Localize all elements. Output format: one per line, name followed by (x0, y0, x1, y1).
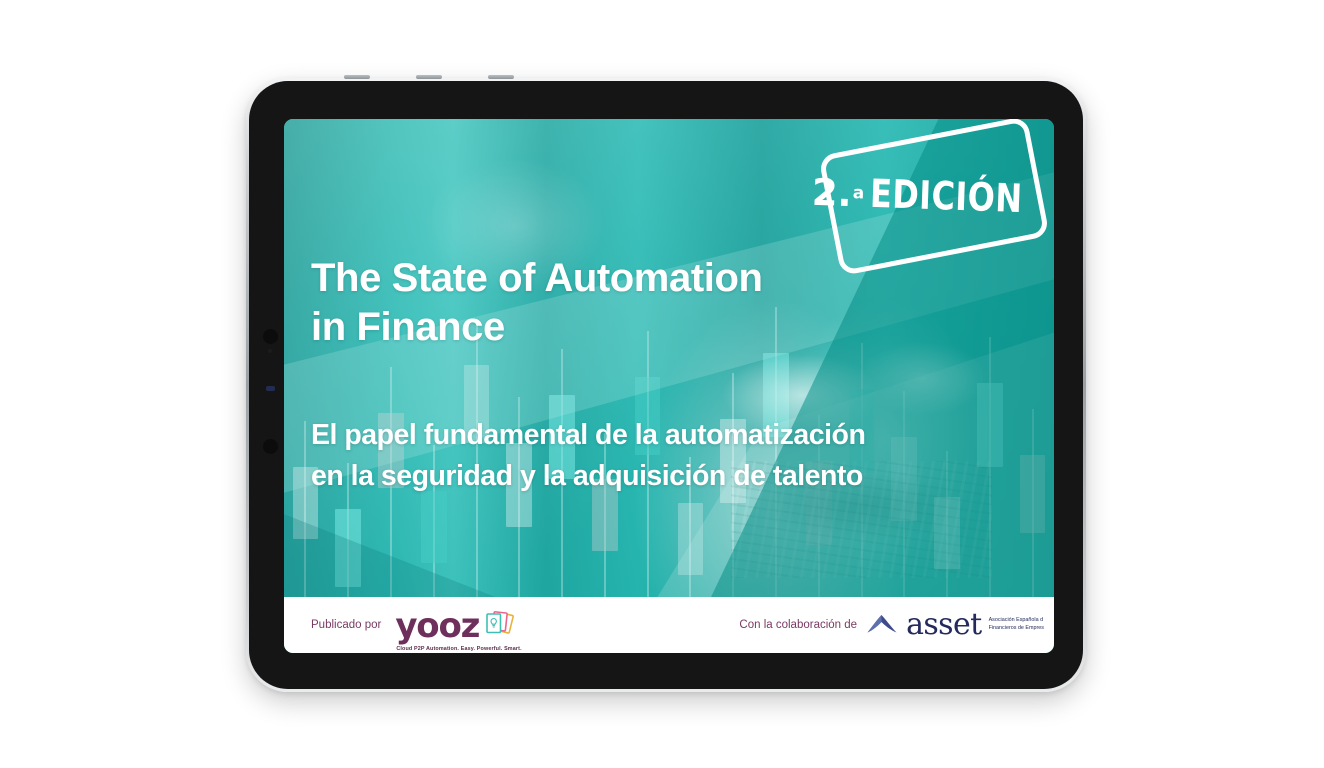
cover-title-line-1: The State of Automation (311, 254, 961, 303)
device-top-antenna-mark (416, 75, 442, 79)
yooz-wordmark: yooz (395, 613, 479, 641)
candle-body (421, 491, 447, 563)
asset-arrow-icon (867, 613, 897, 637)
tablet-bezel: 2. a EDICIÓN The State of Automation in … (249, 81, 1083, 689)
tablet-screen: 2. a EDICIÓN The State of Automation in … (284, 119, 1054, 653)
cover-footer: Publicado por yooz Cloud P2P Automation.… (284, 597, 1054, 653)
cover-subtitle: El papel fundamental de la automatizació… (311, 415, 1011, 497)
yooz-documents-icon (484, 609, 514, 639)
asset-subtitle: Asociación Española d Financieros de Emp… (989, 617, 1044, 633)
edition-word: EDICIÓN (869, 171, 1023, 221)
device-top-antenna-mark (344, 75, 370, 79)
publisher-label: Publicado por (311, 619, 381, 631)
front-camera-icon (263, 329, 278, 344)
status-led-icon (266, 386, 275, 391)
cover-subtitle-line-2: en la seguridad y la adquisición de tale… (311, 456, 1011, 497)
speaker-icon (263, 439, 278, 454)
cover-title: The State of Automation in Finance (311, 254, 961, 352)
asset-wordmark: asset (906, 610, 982, 640)
device-top-antenna-mark (488, 75, 514, 79)
publisher-block: Publicado por yooz Cloud P2P Automation.… (311, 609, 514, 641)
asset-subtitle-line-2: Financieros de Empres (989, 625, 1044, 633)
edition-badge: 2. a EDICIÓN (818, 119, 1049, 276)
cover-subtitle-line-1: El papel fundamental de la automatizació… (311, 415, 1011, 456)
microphone-icon (268, 349, 272, 353)
yooz-tagline: Cloud P2P Automation. Easy. Powerful. Sm… (396, 646, 521, 652)
collaborator-label: Con la colaboración de (739, 619, 857, 631)
edition-ordinal: a (852, 183, 864, 203)
asset-subtitle-line-1: Asociación Española d (989, 617, 1044, 625)
edition-badge-content: 2. a EDICIÓN (831, 137, 1037, 256)
collaborator-block: Con la colaboración de asset Asociación … (739, 610, 1044, 640)
edition-number: 2. (811, 170, 852, 214)
cover-title-line-2: in Finance (311, 303, 961, 352)
tablet-device: 2. a EDICIÓN The State of Automation in … (246, 78, 1086, 692)
yooz-logo: yooz Cloud P2P Automation. Easy. Powerfu… (395, 609, 514, 641)
ebook-cover: 2. a EDICIÓN The State of Automation in … (284, 119, 1054, 653)
